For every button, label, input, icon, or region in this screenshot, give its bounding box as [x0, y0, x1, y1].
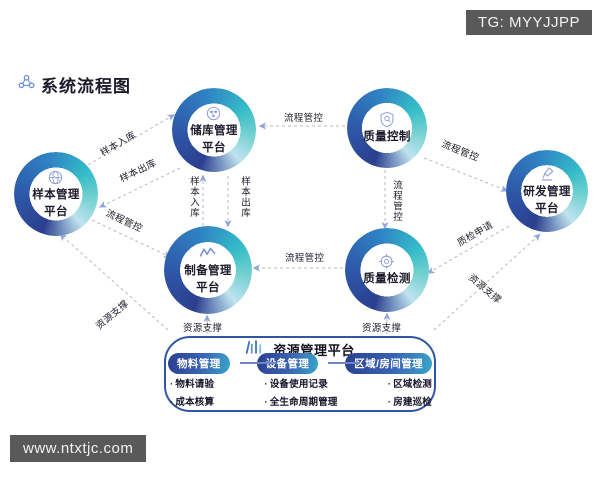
- node-label-2: 平台: [535, 202, 559, 216]
- list-item: 物料请验: [170, 376, 214, 390]
- globe-network-icon: [47, 169, 64, 186]
- edge-label-sample-out-vertical: 样本出库: [237, 176, 251, 218]
- pill-connector-2: [328, 362, 360, 364]
- edge-label-resource-support-qd: 资源支撑: [362, 320, 401, 334]
- edge-label-flow-qd-prep: 流程管控: [285, 250, 324, 264]
- shield-search-icon: [378, 111, 395, 128]
- node-label: 研发管理: [523, 185, 571, 199]
- edge-label-flow-qc-qd: 流程管控: [389, 180, 403, 222]
- tg-tag-overlay: TG: MYYJJPP: [466, 10, 592, 35]
- node-rd-management-platform[interactable]: 研发管理 平台: [506, 150, 588, 232]
- list-item: 全生命周期管理: [264, 394, 337, 408]
- node-label: 质量检测: [363, 272, 411, 286]
- storage-cluster-icon: [205, 105, 222, 122]
- list-item: 成本核算: [170, 394, 214, 408]
- crosshair-target-icon: [378, 253, 395, 270]
- node-label-2: 平台: [202, 141, 226, 155]
- resource-detail-columns: 物料请验 成本核算 设备使用记录 全生命周期管理 区域检测 房建巡检: [170, 376, 432, 408]
- list-item: 房建巡检: [388, 394, 432, 408]
- edge-label-resource-support-prep: 资源支撑: [183, 320, 222, 334]
- detail-column-equipment: 设备使用记录 全生命周期管理: [264, 376, 337, 408]
- node-label: 储库管理: [190, 124, 238, 138]
- line-chart-icon: [199, 245, 216, 262]
- pill-connector-1: [240, 362, 276, 364]
- node-quality-control[interactable]: 质量控制: [347, 88, 427, 168]
- list-item: 区域检测: [388, 376, 432, 390]
- detail-column-material: 物料请验 成本核算: [170, 376, 214, 408]
- edge-label-sample-in-vertical: 样本入库: [186, 176, 200, 218]
- watermark-overlay: www.ntxtjc.com: [10, 435, 146, 462]
- node-label: 质量控制: [363, 130, 411, 144]
- node-storage-management-platform[interactable]: 储库管理 平台: [172, 88, 256, 172]
- list-item: 设备使用记录: [264, 376, 337, 390]
- microscope-icon: [538, 166, 555, 183]
- node-preparation-management-platform[interactable]: 制备管理 平台: [164, 226, 252, 314]
- node-sample-management-platform[interactable]: 样本管理 平台: [14, 152, 98, 236]
- node-label: 制备管理: [184, 264, 232, 278]
- detail-column-area: 区域检测 房建巡检: [388, 376, 432, 408]
- diagram-canvas: 系统流程图: [0, 0, 600, 480]
- node-label-2: 平台: [196, 281, 220, 295]
- edge-label-flow-qc-storage: 流程管控: [284, 110, 323, 124]
- pill-material-management[interactable]: 物料管理: [168, 353, 230, 374]
- node-label: 样本管理: [32, 188, 80, 202]
- node-label-2: 平台: [44, 205, 68, 219]
- node-quality-detection[interactable]: 质量检测: [345, 228, 429, 312]
- resource-pill-row: 物料管理 设备管理 区域/房间管理: [168, 353, 432, 373]
